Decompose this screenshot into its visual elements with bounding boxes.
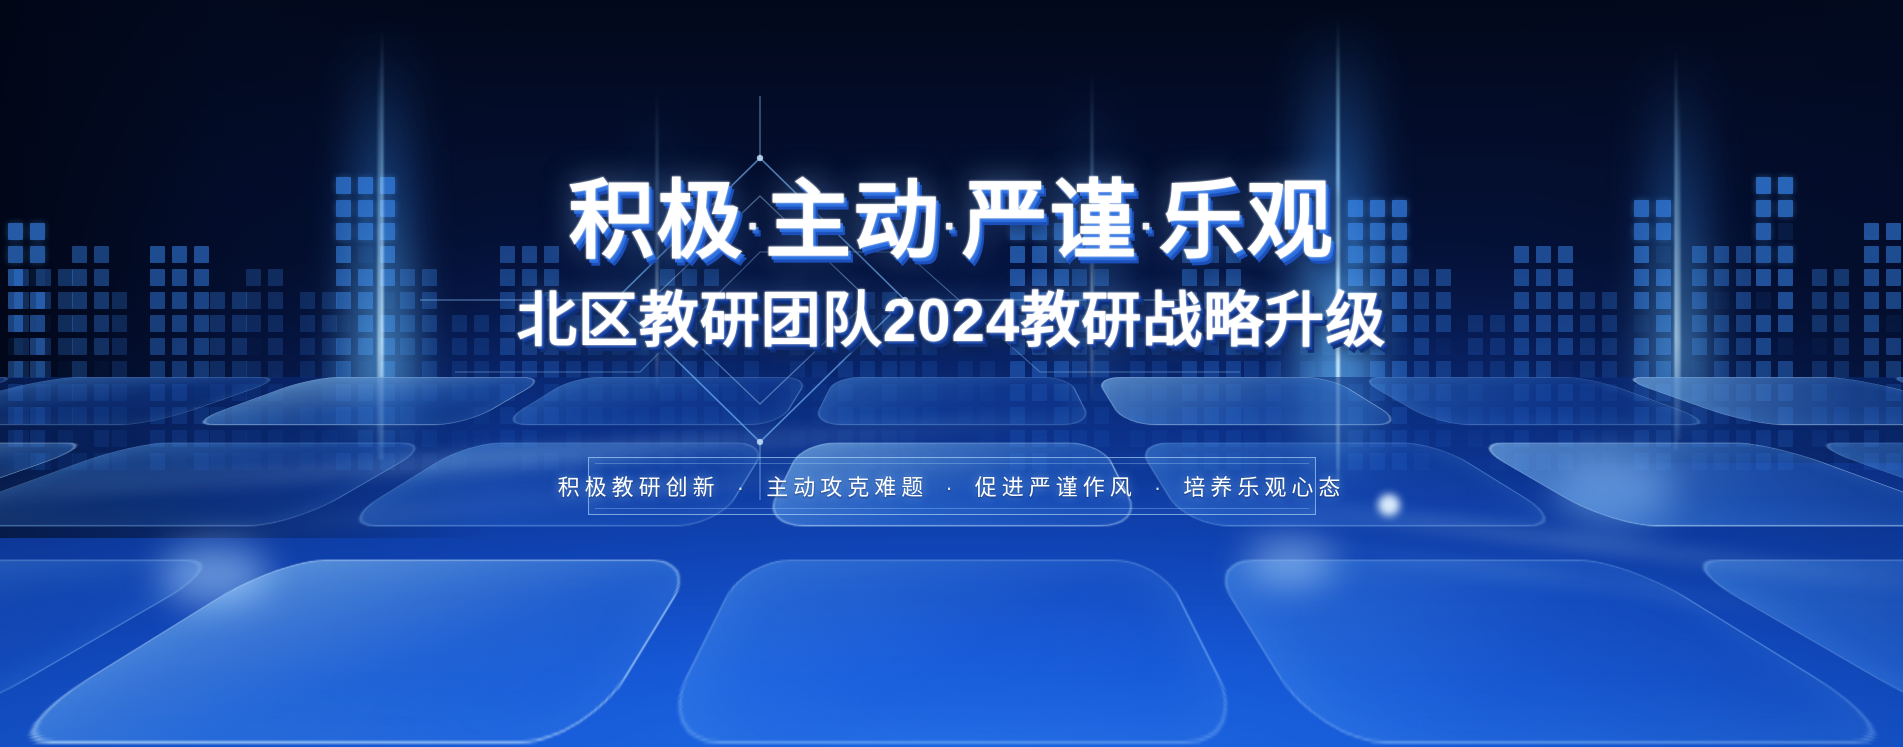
skyline-window: [72, 338, 87, 355]
skyline-window: [1414, 292, 1429, 309]
title-separator-dot: ·: [941, 202, 962, 251]
skyline-window: [194, 338, 209, 355]
skyline-window: [704, 269, 719, 286]
skyline-window: [1736, 407, 1751, 424]
skyline-window: [1756, 384, 1771, 401]
skyline-window: [1348, 315, 1363, 332]
skyline-window: [566, 315, 581, 332]
skyline-window: [682, 292, 697, 309]
skyline-window: [500, 453, 515, 470]
skyline-window: [1864, 384, 1879, 401]
skyline-window: [194, 269, 209, 286]
skyline-window: [1370, 292, 1385, 309]
skyline-window: [660, 361, 675, 378]
skyline-window: [1812, 407, 1827, 424]
skyline-window: [1834, 453, 1849, 470]
skyline-window: [8, 453, 23, 470]
skyline-window: [452, 407, 467, 424]
skyline-window: [1656, 430, 1671, 447]
skyline-window: [1244, 338, 1259, 355]
skyline-window: [1714, 292, 1729, 309]
skyline-window: [1886, 338, 1901, 355]
skyline-window: [1072, 430, 1087, 447]
skyline-window: [268, 453, 283, 470]
skyline-window: [400, 430, 415, 447]
skyline-window: [1714, 246, 1729, 263]
skyline-window: [1714, 384, 1729, 401]
skyline-window: [300, 361, 315, 378]
skyline-window: [232, 315, 247, 332]
skyline-window: [838, 292, 853, 309]
skyline-window: [58, 430, 73, 447]
light-beam: [1648, 50, 1704, 450]
skyline-window: [30, 223, 45, 240]
skyline-window: [14, 430, 29, 447]
skyline-window: [744, 407, 759, 424]
skyline-window: [268, 292, 283, 309]
floor-tile: [0, 377, 1903, 747]
skyline-window: [1634, 292, 1649, 309]
skyline-window: [1514, 269, 1529, 286]
skyline-window: [790, 338, 805, 355]
skyline-window: [1204, 269, 1219, 286]
skyline-window: [882, 384, 897, 401]
skyline-window: [358, 338, 373, 355]
skyline-window: [1436, 407, 1451, 424]
floor-tile: [0, 377, 1903, 747]
skyline-window: [1072, 361, 1087, 378]
skyline-tower: [452, 315, 489, 470]
skyline-window: [1490, 338, 1505, 355]
skyline-window: [922, 430, 937, 447]
skyline-window: [1436, 453, 1451, 470]
skyline-window: [588, 384, 603, 401]
skyline-window: [474, 430, 489, 447]
skyline-window: [1536, 315, 1551, 332]
skyline-window: [1468, 430, 1483, 447]
skyline-window: [1602, 453, 1617, 470]
skyline-window: [1054, 315, 1069, 332]
skyline-window: [268, 430, 283, 447]
skyline-window: [1182, 384, 1197, 401]
skyline-window: [522, 430, 537, 447]
skyline-window: [1226, 407, 1241, 424]
skyline-window: [1692, 453, 1707, 470]
skyline-window: [1204, 315, 1219, 332]
light-beam-core: [656, 90, 659, 390]
skyline-window: [1300, 407, 1315, 424]
skyline-window: [172, 407, 187, 424]
skyline-tower: [1468, 315, 1505, 470]
skyline-window: [30, 338, 45, 355]
floor-tile: [0, 377, 26, 425]
skyline-window: [1010, 246, 1025, 263]
skyline-window: [150, 407, 165, 424]
skyline-window: [380, 338, 395, 355]
skyline-window: [336, 407, 351, 424]
skyline-window: [1226, 384, 1241, 401]
floor-tile: [0, 377, 1903, 747]
skyline-window: [1436, 430, 1451, 447]
skyline-window: [422, 407, 437, 424]
skyline-window: [322, 407, 337, 424]
skyline-window: [922, 407, 937, 424]
skyline-window: [30, 407, 45, 424]
skyline-window: [1864, 246, 1879, 263]
skyline-window: [838, 315, 853, 332]
skyline-window: [1656, 200, 1671, 217]
skyline-window: [1756, 292, 1771, 309]
skyline-window: [1778, 200, 1793, 217]
skyline-window: [1010, 361, 1025, 378]
skyline-window: [112, 315, 127, 332]
skyline-window: [1244, 407, 1259, 424]
skyline-window: [1714, 453, 1729, 470]
skyline-window: [1072, 338, 1087, 355]
skyline-window: [322, 315, 337, 332]
skyline-window: [58, 292, 73, 309]
skyline-window: [1864, 407, 1879, 424]
skyline-window: [1656, 292, 1671, 309]
skyline-window: [612, 361, 627, 378]
skyline-window: [1348, 407, 1363, 424]
skyline-window: [722, 338, 737, 355]
skyline-window: [1392, 430, 1407, 447]
skyline-window: [900, 407, 915, 424]
skyline-window: [1370, 407, 1385, 424]
skyline-window: [1392, 223, 1407, 240]
skyline-window: [30, 453, 45, 470]
skyline-window: [522, 269, 537, 286]
skyline-window: [588, 338, 603, 355]
skyline-window: [72, 269, 87, 286]
floor-tile: [0, 560, 696, 743]
floor-tile: [0, 377, 287, 425]
skyline-window: [544, 292, 559, 309]
skyline-window: [1094, 407, 1109, 424]
skyline-window: [1152, 361, 1167, 378]
skyline-window: [1490, 384, 1505, 401]
skyline-window: [1130, 338, 1145, 355]
skyline-tower: [1348, 200, 1407, 470]
skyline-tower: [72, 246, 109, 470]
skyline-window: [1536, 407, 1551, 424]
skyline-window: [544, 361, 559, 378]
skyline-window: [1392, 384, 1407, 401]
skyline-window: [1756, 430, 1771, 447]
skyline-window: [1778, 246, 1793, 263]
skyline-window: [566, 292, 581, 309]
skyline-window: [1714, 269, 1729, 286]
skyline-window: [380, 361, 395, 378]
skyline-window: [400, 315, 415, 332]
skyline-window: [1886, 246, 1901, 263]
skyline-window: [358, 361, 373, 378]
light-beam-core: [381, 30, 384, 460]
skyline-tower: [1130, 315, 1167, 470]
skyline-window: [1634, 269, 1649, 286]
skyline-window: [1864, 292, 1879, 309]
skyline-tower: [336, 177, 395, 470]
skyline-window: [1152, 430, 1167, 447]
skyline-window: [1072, 315, 1087, 332]
skyline-tower: [660, 269, 719, 470]
glow-orb-left: [160, 545, 270, 605]
skyline-window: [522, 338, 537, 355]
skyline-tower: [14, 269, 73, 470]
page-subtitle: 北区教研团队2024教研战略升级: [517, 272, 1386, 359]
skyline-window: [1392, 338, 1407, 355]
skyline-window: [246, 361, 261, 378]
skyline-window: [1094, 384, 1109, 401]
skyline-window: [1204, 407, 1219, 424]
skyline-window: [1558, 338, 1573, 355]
skyline-window: [812, 407, 827, 424]
skyline-window: [1634, 315, 1649, 332]
skyline-window: [900, 338, 915, 355]
skyline-window: [1656, 269, 1671, 286]
skyline-window: [1656, 315, 1671, 332]
skyline-window: [358, 407, 373, 424]
skyline-window: [232, 292, 247, 309]
skyline-window: [1778, 292, 1793, 309]
skyline-window: [1152, 315, 1167, 332]
skyline-window: [860, 430, 875, 447]
skyline-window: [1054, 384, 1069, 401]
skyline-window: [1864, 315, 1879, 332]
skyline-tower: [150, 246, 209, 470]
skyline-window: [1778, 407, 1793, 424]
skyline-window: [422, 315, 437, 332]
skyline-window: [1602, 361, 1617, 378]
skyline-window: [1370, 338, 1385, 355]
skyline-window: [1634, 361, 1649, 378]
skyline-window: [300, 315, 315, 332]
skyline-window: [1010, 338, 1025, 355]
light-beam-core: [1337, 18, 1340, 488]
skyline-window: [1054, 292, 1069, 309]
skyline-window: [682, 430, 697, 447]
skyline-window: [1300, 361, 1315, 378]
skyline-window: [30, 361, 45, 378]
skyline-window: [1370, 246, 1385, 263]
skyline-window: [1392, 361, 1407, 378]
skyline-window: [1756, 315, 1771, 332]
light-beam: [1072, 70, 1112, 400]
skyline-window: [1602, 315, 1617, 332]
light-beam: [1302, 18, 1374, 488]
skyline-window: [1266, 407, 1281, 424]
skyline-window: [1514, 246, 1529, 263]
skyline-window: [522, 292, 537, 309]
skyline-window: [544, 453, 559, 470]
skyline-window: [1010, 269, 1025, 286]
skyline-window: [1602, 292, 1617, 309]
skyline-window: [112, 292, 127, 309]
skyline-window: [1266, 384, 1281, 401]
skyline-window: [1032, 361, 1047, 378]
skyline-tower: [1756, 177, 1793, 470]
skyline-window: [1226, 269, 1241, 286]
skyline-window: [1536, 361, 1551, 378]
skyline-window: [1182, 292, 1197, 309]
skyline-window: [452, 453, 467, 470]
skyline-window: [1558, 246, 1573, 263]
skyline-window: [704, 292, 719, 309]
skyline-window: [1010, 384, 1025, 401]
skyline-window: [1436, 338, 1451, 355]
skyline-window: [544, 430, 559, 447]
skyline-window: [860, 384, 875, 401]
skyline-window: [1864, 223, 1879, 240]
skyline-window: [1072, 384, 1087, 401]
skyline-window: [1692, 246, 1707, 263]
skyline-window: [1886, 361, 1901, 378]
skyline-window: [8, 407, 23, 424]
skyline-window: [1490, 315, 1505, 332]
skyline-window: [1130, 407, 1145, 424]
skyline-window: [268, 384, 283, 401]
skyline-window: [380, 315, 395, 332]
skyline-window: [1558, 269, 1573, 286]
light-streak-4: [1183, 524, 1862, 622]
skyline-window: [522, 453, 537, 470]
skyline-window: [1558, 292, 1573, 309]
skyline-window: [1558, 384, 1573, 401]
skyline-window: [322, 453, 337, 470]
skyline-window: [682, 315, 697, 332]
skyline-tower: [1864, 223, 1901, 470]
skyline-window: [1656, 338, 1671, 355]
skyline-window: [1322, 384, 1337, 401]
skyline-window: [566, 384, 581, 401]
skyline-window: [94, 384, 109, 401]
skyline-window: [1032, 223, 1047, 240]
skyline-window: [36, 430, 51, 447]
skyline-window: [612, 430, 627, 447]
skyline-window: [358, 177, 373, 194]
skyline-window: [380, 246, 395, 263]
skyline-window: [1010, 430, 1025, 447]
skyline-window: [1322, 407, 1337, 424]
skyline-window: [704, 407, 719, 424]
skyline-window: [1714, 338, 1729, 355]
skyline-window: [1580, 430, 1595, 447]
skyline-window: [1834, 384, 1849, 401]
skyline-window: [1580, 315, 1595, 332]
skyline-tower: [1414, 269, 1451, 470]
skyline-window: [722, 315, 737, 332]
skyline-window: [1414, 315, 1429, 332]
skyline-window: [1322, 453, 1337, 470]
skyline-window: [500, 269, 515, 286]
skyline-window: [452, 384, 467, 401]
skyline-window: [268, 407, 283, 424]
floor-tile: [0, 377, 1903, 747]
skyline-window: [1226, 246, 1241, 263]
skyline-window: [500, 384, 515, 401]
skyline-window: [1468, 361, 1483, 378]
skyline-window: [1714, 315, 1729, 332]
skyline-window: [1370, 315, 1385, 332]
skyline-window: [1656, 246, 1671, 263]
skyline-window: [380, 430, 395, 447]
skyline-window: [1756, 407, 1771, 424]
skyline-window: [452, 361, 467, 378]
top-vignette: [0, 0, 1903, 344]
skyline-window: [612, 338, 627, 355]
skyline-window: [958, 361, 973, 378]
title-segment: 严谨: [962, 173, 1138, 269]
skyline-window: [1436, 361, 1451, 378]
skyline-tower: [1812, 269, 1849, 470]
skyline-window: [1392, 269, 1407, 286]
skyline-window: [1656, 407, 1671, 424]
skyline-window: [722, 384, 737, 401]
skyline-window: [400, 292, 415, 309]
skyline-window: [1094, 338, 1109, 355]
skyline-window: [958, 430, 973, 447]
skyline-window: [980, 407, 995, 424]
skyline-window: [1886, 269, 1901, 286]
skyline-window: [1182, 246, 1197, 263]
skyline-window: [1010, 407, 1025, 424]
skyline-window: [36, 338, 51, 355]
skyline-window: [1226, 338, 1241, 355]
skyline-window: [1414, 384, 1429, 401]
skyline-window: [36, 269, 51, 286]
skyline-window: [1886, 430, 1901, 447]
skyline-window: [1204, 338, 1219, 355]
skyline-window: [1322, 430, 1337, 447]
skyline-window: [94, 430, 109, 447]
skyline-window: [1370, 200, 1385, 217]
skyline-window: [1634, 200, 1649, 217]
skyline-window: [1634, 246, 1649, 263]
skyline-window: [30, 269, 45, 286]
skyline-window: [1692, 315, 1707, 332]
light-beam-halo: [1664, 90, 1694, 440]
skyline-window: [1714, 361, 1729, 378]
skyline-window: [1054, 361, 1069, 378]
skyline-window: [958, 407, 973, 424]
skyline-window: [380, 384, 395, 401]
skyline-window: [210, 384, 225, 401]
skyline-window: [1812, 338, 1827, 355]
skyline-window: [1634, 453, 1649, 470]
skyline-window: [1414, 430, 1429, 447]
skyline-window: [1736, 453, 1751, 470]
skyline-window: [634, 407, 649, 424]
skyline-window: [1182, 407, 1197, 424]
skyline-window: [246, 315, 261, 332]
skyline-window: [336, 384, 351, 401]
skyline-window: [500, 338, 515, 355]
skyline-window: [150, 384, 165, 401]
skyline-window: [1244, 315, 1259, 332]
skyline-window: [1834, 361, 1849, 378]
skyline-window: [1370, 269, 1385, 286]
skyline-window: [1204, 292, 1219, 309]
skyline-window: [58, 361, 73, 378]
skyline-window: [1392, 246, 1407, 263]
skyline-window: [72, 315, 87, 332]
skyline-window: [1558, 361, 1573, 378]
skyline-window: [300, 453, 315, 470]
skyline-window: [1204, 430, 1219, 447]
skyline-window: [1886, 384, 1901, 401]
skyline-window: [1490, 453, 1505, 470]
